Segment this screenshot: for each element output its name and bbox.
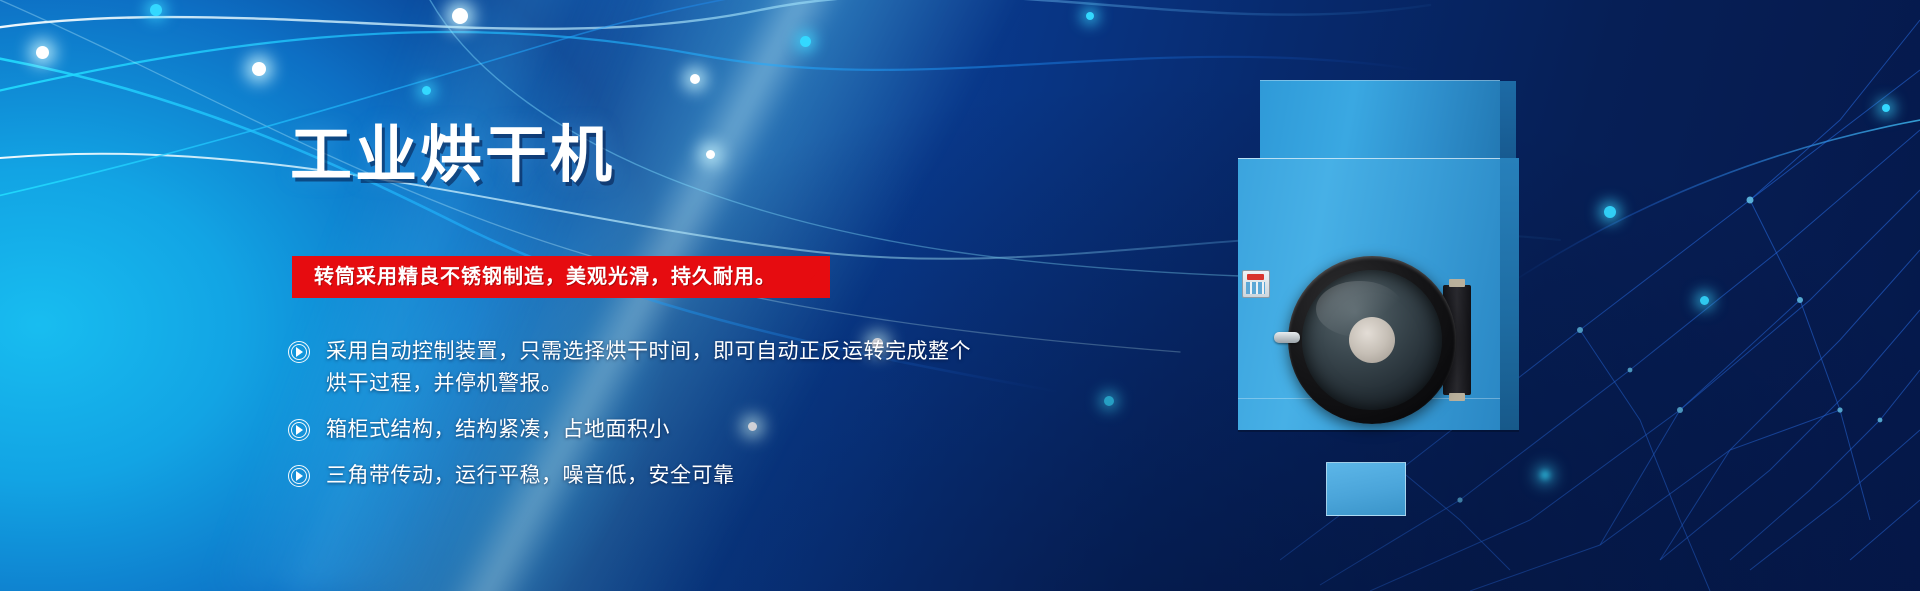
machine-top-section bbox=[1260, 80, 1500, 159]
glow-node bbox=[1104, 396, 1114, 406]
feature-text: 箱柜式结构，结构紧凑，占地面积小 bbox=[326, 414, 670, 446]
control-panel[interactable] bbox=[1242, 270, 1270, 298]
glow-node bbox=[1086, 12, 1094, 20]
industrial-dryer-machine bbox=[1238, 80, 1521, 430]
lower-access-panel[interactable] bbox=[1326, 462, 1406, 516]
glow-node bbox=[1540, 470, 1550, 480]
machine-base bbox=[1238, 430, 1519, 432]
hero-banner: 工业烘干机 转筒采用精良不锈钢制造，美观光滑，持久耐用。 采用自动控制装置，只需… bbox=[0, 0, 1920, 591]
drum-door[interactable] bbox=[1288, 256, 1456, 424]
tagline-text: 转筒采用精良不锈钢制造，美观光滑，持久耐用。 bbox=[314, 266, 776, 288]
list-item: 采用自动控制装置，只需选择烘干时间，即可自动正反运转完成整个烘干过程，并停机警报… bbox=[288, 336, 988, 400]
control-panel-keypad bbox=[1246, 282, 1265, 294]
hinge-tab bbox=[1449, 279, 1465, 287]
door-handle[interactable] bbox=[1274, 332, 1300, 343]
glow-node bbox=[1604, 206, 1616, 218]
machine-seam bbox=[1238, 158, 1500, 159]
drum-center-hub bbox=[1349, 317, 1395, 363]
circle-chevron-right-icon bbox=[288, 341, 310, 363]
glow-node bbox=[1700, 296, 1709, 305]
hinge-tab bbox=[1449, 393, 1465, 401]
page-title: 工业烘干机 bbox=[290, 125, 615, 187]
hero-text-content: 工业烘干机 转筒采用精良不锈钢制造，美观光滑，持久耐用。 采用自动控制装置，只需… bbox=[0, 0, 1000, 591]
feature-list: 采用自动控制装置，只需选择烘干时间，即可自动正反运转完成整个烘干过程，并停机警报… bbox=[288, 336, 988, 506]
control-panel-display bbox=[1247, 274, 1264, 280]
feature-text: 采用自动控制装置，只需选择烘干时间，即可自动正反运转完成整个烘干过程，并停机警报… bbox=[326, 336, 988, 400]
glow-node bbox=[1882, 104, 1890, 112]
list-item: 箱柜式结构，结构紧凑，占地面积小 bbox=[288, 414, 988, 446]
feature-text: 三角带传动，运行平稳，噪音低，安全可靠 bbox=[326, 460, 735, 492]
list-item: 三角带传动，运行平稳，噪音低，安全可靠 bbox=[288, 460, 988, 492]
circle-chevron-right-icon bbox=[288, 419, 310, 441]
tagline-ribbon: 转筒采用精良不锈钢制造，美观光滑，持久耐用。 bbox=[292, 256, 830, 298]
circle-chevron-right-icon bbox=[288, 465, 310, 487]
tagline-banner: 转筒采用精良不锈钢制造，美观光滑，持久耐用。 bbox=[292, 256, 830, 298]
door-glass bbox=[1302, 270, 1442, 410]
